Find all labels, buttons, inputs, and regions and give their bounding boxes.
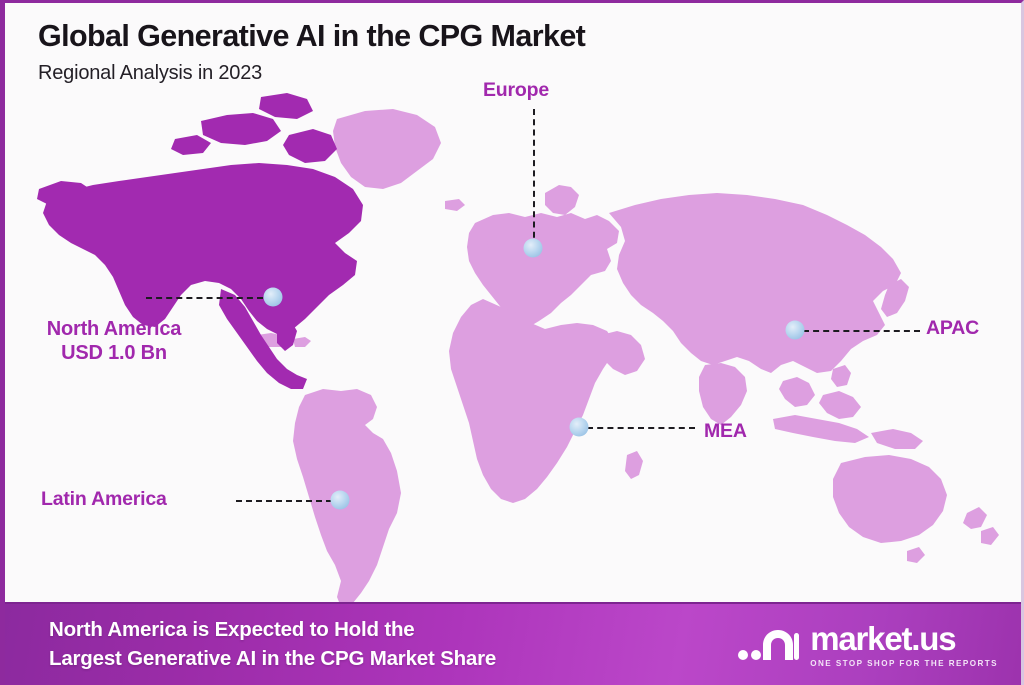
region-baffin bbox=[283, 129, 337, 163]
market-us-wordmark: market.us bbox=[810, 622, 998, 655]
region-indonesia bbox=[773, 415, 869, 443]
leader-line-apac bbox=[803, 330, 920, 332]
footer-bar: North America is Expected to Hold the La… bbox=[5, 602, 1024, 685]
market-us-logo: market.us ONE STOP SHOP FOR THE REPORTS bbox=[737, 622, 1004, 668]
region-label-apac-name: APAC bbox=[926, 317, 979, 339]
region-newzealand-2 bbox=[981, 527, 999, 545]
region-india bbox=[699, 363, 747, 425]
footer-caption-line-1: North America is Expected to Hold the bbox=[49, 616, 496, 644]
region-newzealand bbox=[963, 507, 987, 529]
infographic-canvas: Global Generative AI in the CPG Market R… bbox=[0, 0, 1024, 685]
region-philippines bbox=[831, 365, 851, 387]
marker-europe bbox=[524, 239, 543, 258]
region-label-europe: Europe bbox=[483, 79, 549, 103]
marker-latin-america bbox=[331, 491, 350, 510]
region-asia bbox=[609, 193, 901, 373]
region-label-apac: APAC bbox=[926, 317, 979, 341]
footer-caption: North America is Expected to Hold the La… bbox=[49, 616, 496, 673]
market-us-logo-mark-icon bbox=[737, 625, 799, 665]
region-label-north-america: North America USD 1.0 Bn bbox=[19, 317, 209, 366]
region-iceland bbox=[445, 199, 465, 211]
market-us-tagline: ONE STOP SHOP FOR THE REPORTS bbox=[810, 659, 998, 668]
region-arctic-islands-3 bbox=[171, 135, 211, 155]
region-arctic-islands-2 bbox=[259, 93, 313, 119]
region-label-mea: MEA bbox=[704, 420, 747, 444]
region-label-latin-america: Latin America bbox=[41, 488, 167, 512]
marker-apac bbox=[786, 321, 805, 340]
region-africa bbox=[449, 299, 615, 503]
region-arabia bbox=[597, 331, 645, 375]
region-value-north-america: USD 1.0 Bn bbox=[19, 341, 209, 365]
region-label-north-america-name: North America bbox=[47, 318, 181, 340]
leader-line-north-america bbox=[146, 297, 263, 299]
region-caribbean-2 bbox=[293, 337, 311, 347]
leader-line-mea bbox=[587, 427, 695, 429]
region-newguinea bbox=[871, 429, 923, 449]
page-title: Global Generative AI in the CPG Market bbox=[38, 19, 585, 54]
region-label-mea-name: MEA bbox=[704, 420, 747, 442]
marker-mea bbox=[570, 418, 589, 437]
footer-caption-line-2: Largest Generative AI in the CPG Market … bbox=[49, 645, 496, 673]
leader-line-latin-america bbox=[236, 500, 332, 502]
marker-north-america bbox=[264, 288, 283, 307]
market-us-logo-text: market.us ONE STOP SHOP FOR THE REPORTS bbox=[810, 622, 998, 668]
map-regions-other bbox=[257, 109, 999, 607]
region-madagascar bbox=[625, 451, 643, 479]
region-north-america bbox=[43, 163, 363, 335]
region-arctic-islands-1 bbox=[201, 113, 281, 145]
region-sea-2 bbox=[819, 391, 861, 419]
region-tasmania bbox=[907, 547, 925, 563]
region-scandinavia bbox=[545, 185, 579, 215]
region-label-latin-america-name: Latin America bbox=[41, 488, 167, 510]
leader-line-europe bbox=[533, 109, 535, 248]
region-greenland bbox=[333, 109, 441, 189]
region-australia bbox=[833, 455, 947, 543]
region-label-europe-name: Europe bbox=[483, 79, 549, 101]
region-sea-1 bbox=[779, 377, 815, 407]
